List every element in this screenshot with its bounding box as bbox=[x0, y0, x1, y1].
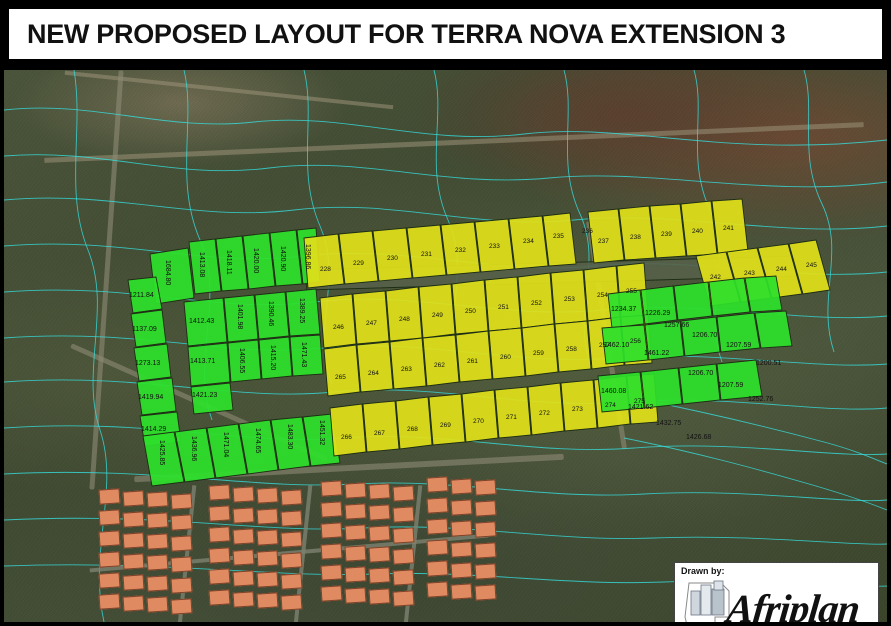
house-roof bbox=[257, 592, 279, 608]
house-roof bbox=[393, 506, 415, 522]
house-roof bbox=[171, 598, 193, 614]
yellow-parcel bbox=[456, 331, 492, 382]
house-roof bbox=[257, 487, 279, 503]
yellow-parcel bbox=[320, 294, 356, 348]
yellow-parcel bbox=[396, 397, 432, 449]
afriplan-logo-block: Drawn by: Afriplan Tel: (013) 282 8035 e… bbox=[674, 562, 879, 622]
house-roof bbox=[99, 572, 121, 588]
green-parcel bbox=[641, 368, 682, 408]
green-parcel bbox=[228, 340, 261, 382]
house-roof bbox=[369, 546, 391, 562]
house-roof bbox=[171, 556, 193, 572]
house-roof bbox=[427, 476, 449, 492]
yellow-parcel bbox=[543, 213, 576, 266]
drawn-by-label: Drawn by: bbox=[681, 566, 725, 576]
yellow-parcel bbox=[588, 209, 624, 263]
drawing-title-bar: NEW PROPOSED LAYOUT FOR TERRA NOVA EXTEN… bbox=[6, 6, 885, 62]
yellow-parcel bbox=[304, 234, 344, 288]
page-title: NEW PROPOSED LAYOUT FOR TERRA NOVA EXTEN… bbox=[9, 19, 785, 50]
house-roof bbox=[123, 490, 145, 506]
yellow-parcel bbox=[429, 394, 465, 445]
house-roof bbox=[123, 595, 145, 611]
yellow-parcel bbox=[509, 216, 548, 269]
house-roof bbox=[147, 512, 169, 528]
yellow-parcel bbox=[528, 383, 564, 435]
aerial-site-map: 1684.80 1413.08 1418.11 1420.00 1420.90 … bbox=[4, 70, 887, 622]
green-parcel bbox=[259, 337, 292, 379]
green-parcel bbox=[224, 295, 258, 342]
existing-township-houses bbox=[89, 485, 489, 622]
green-parcel bbox=[674, 282, 712, 320]
yellow-parcel bbox=[518, 273, 554, 328]
house-roof bbox=[393, 548, 415, 564]
house-roof bbox=[475, 479, 497, 495]
green-parcel bbox=[255, 292, 289, 339]
afriplan-wordmark: Afriplan bbox=[725, 585, 862, 622]
house-roof bbox=[99, 488, 121, 504]
house-roof bbox=[99, 593, 121, 609]
house-roof bbox=[233, 507, 255, 523]
house-roof bbox=[475, 542, 497, 558]
green-parcel bbox=[188, 343, 230, 386]
house-roof bbox=[209, 526, 231, 542]
house-roof bbox=[321, 501, 343, 517]
yellow-parcel bbox=[619, 206, 655, 260]
house-roof bbox=[257, 571, 279, 587]
green-parcel bbox=[745, 276, 782, 312]
house-roof bbox=[475, 563, 497, 579]
house-roof bbox=[393, 485, 415, 501]
green-parcel bbox=[717, 313, 760, 352]
house-roof bbox=[475, 500, 497, 516]
yellow-parcel bbox=[407, 225, 446, 278]
house-roof bbox=[451, 499, 473, 515]
green-parcel bbox=[128, 277, 162, 313]
green-parcel bbox=[641, 286, 677, 324]
house-roof bbox=[209, 484, 231, 500]
house-roof bbox=[233, 549, 255, 565]
yellow-parcel bbox=[561, 380, 597, 431]
house-roof bbox=[427, 581, 449, 597]
green-parcel bbox=[131, 310, 166, 347]
house-roof bbox=[233, 591, 255, 607]
green-parcel bbox=[709, 278, 750, 316]
house-roof bbox=[171, 493, 193, 509]
house-roof bbox=[147, 533, 169, 549]
yellow-parcel bbox=[419, 284, 455, 338]
house-roof bbox=[281, 489, 303, 505]
yellow-parcel bbox=[353, 291, 389, 344]
house-roof bbox=[147, 554, 169, 570]
green-parcel bbox=[608, 290, 644, 328]
house-roof bbox=[345, 587, 367, 603]
house-roof bbox=[147, 596, 169, 612]
green-parcel bbox=[270, 230, 302, 286]
house-roof bbox=[281, 531, 303, 547]
yellow-parcel bbox=[423, 335, 459, 386]
yellow-parcel bbox=[495, 387, 531, 438]
house-roof bbox=[147, 575, 169, 591]
house-roof bbox=[427, 560, 449, 576]
green-parcel bbox=[598, 372, 644, 412]
house-roof bbox=[451, 478, 473, 494]
green-parcel bbox=[755, 311, 792, 348]
green-parcel bbox=[645, 321, 684, 360]
green-parcel bbox=[681, 317, 720, 356]
house-roof bbox=[475, 584, 497, 600]
yellow-parcel bbox=[324, 345, 360, 396]
house-roof bbox=[233, 570, 255, 586]
yellow-parcel bbox=[390, 338, 426, 389]
house-roof bbox=[281, 552, 303, 568]
green-parcel bbox=[216, 236, 248, 291]
house-roof bbox=[393, 590, 415, 606]
house-roof bbox=[345, 524, 367, 540]
house-roof bbox=[369, 567, 391, 583]
house-roof bbox=[123, 511, 145, 527]
house-roof bbox=[233, 486, 255, 502]
house-roof bbox=[281, 594, 303, 610]
house-roof bbox=[321, 585, 343, 601]
green-parcel bbox=[137, 378, 176, 415]
house-roof bbox=[451, 562, 473, 578]
yellow-parcel bbox=[452, 280, 488, 334]
yellow-parcel bbox=[330, 404, 366, 456]
house-roof bbox=[257, 550, 279, 566]
yellow-parcel bbox=[462, 390, 498, 442]
house-roof bbox=[321, 522, 343, 538]
house-roof bbox=[209, 589, 231, 605]
yellow-parcel bbox=[475, 219, 514, 272]
yellow-parcel bbox=[712, 199, 748, 254]
yellow-parcel bbox=[650, 204, 686, 258]
yellow-parcel bbox=[489, 328, 525, 379]
house-roof bbox=[321, 564, 343, 580]
house-roof bbox=[321, 543, 343, 559]
house-roof bbox=[99, 509, 121, 525]
house-roof bbox=[345, 566, 367, 582]
house-roof bbox=[475, 521, 497, 537]
green-parcel bbox=[134, 344, 171, 381]
house-roof bbox=[209, 505, 231, 521]
house-roof bbox=[171, 577, 193, 593]
house-roof bbox=[345, 503, 367, 519]
plan-drawing-page: NEW PROPOSED LAYOUT FOR TERRA NOVA EXTEN… bbox=[0, 0, 891, 626]
green-parcel bbox=[679, 364, 720, 404]
house-roof bbox=[369, 525, 391, 541]
green-parcel bbox=[602, 325, 648, 364]
house-roof bbox=[233, 528, 255, 544]
yellow-parcel bbox=[522, 324, 558, 376]
yellow-parcel bbox=[386, 287, 422, 341]
yellow-parcel bbox=[363, 401, 399, 452]
house-roof bbox=[451, 583, 473, 599]
house-roof bbox=[123, 553, 145, 569]
house-roof bbox=[451, 541, 473, 557]
house-roof bbox=[345, 482, 367, 498]
house-roof bbox=[99, 530, 121, 546]
yellow-parcel bbox=[555, 321, 591, 372]
house-roof bbox=[369, 483, 391, 499]
yellow-parcel bbox=[485, 277, 521, 331]
green-parcel bbox=[290, 335, 323, 376]
green-parcel bbox=[191, 383, 233, 414]
green-parcel bbox=[189, 239, 221, 294]
house-roof bbox=[257, 508, 279, 524]
house-roof bbox=[209, 547, 231, 563]
house-roof bbox=[427, 518, 449, 534]
house-roof bbox=[171, 535, 193, 551]
house-roof bbox=[147, 491, 169, 507]
house-roof bbox=[393, 569, 415, 585]
house-roof bbox=[209, 568, 231, 584]
house-roof bbox=[281, 510, 303, 526]
yellow-parcel bbox=[441, 222, 480, 275]
house-roof bbox=[369, 588, 391, 604]
house-roof bbox=[281, 573, 303, 589]
house-roof bbox=[451, 520, 473, 536]
house-roof bbox=[171, 514, 193, 530]
green-parcel bbox=[184, 298, 227, 346]
green-parcel bbox=[717, 360, 762, 400]
house-roof bbox=[393, 527, 415, 543]
green-parcel bbox=[243, 233, 275, 289]
green-parcel bbox=[286, 289, 320, 336]
house-roof bbox=[99, 551, 121, 567]
house-roof bbox=[257, 529, 279, 545]
house-roof bbox=[369, 504, 391, 520]
yellow-parcel bbox=[373, 228, 412, 281]
yellow-parcel bbox=[339, 231, 378, 284]
house-roof bbox=[345, 545, 367, 561]
house-roof bbox=[123, 574, 145, 590]
house-roof bbox=[321, 480, 343, 496]
yellow-parcel bbox=[551, 270, 587, 324]
house-roof bbox=[427, 497, 449, 513]
house-roof bbox=[123, 532, 145, 548]
yellow-parcel bbox=[681, 201, 717, 256]
yellow-parcel bbox=[357, 342, 393, 392]
house-roof bbox=[427, 539, 449, 555]
